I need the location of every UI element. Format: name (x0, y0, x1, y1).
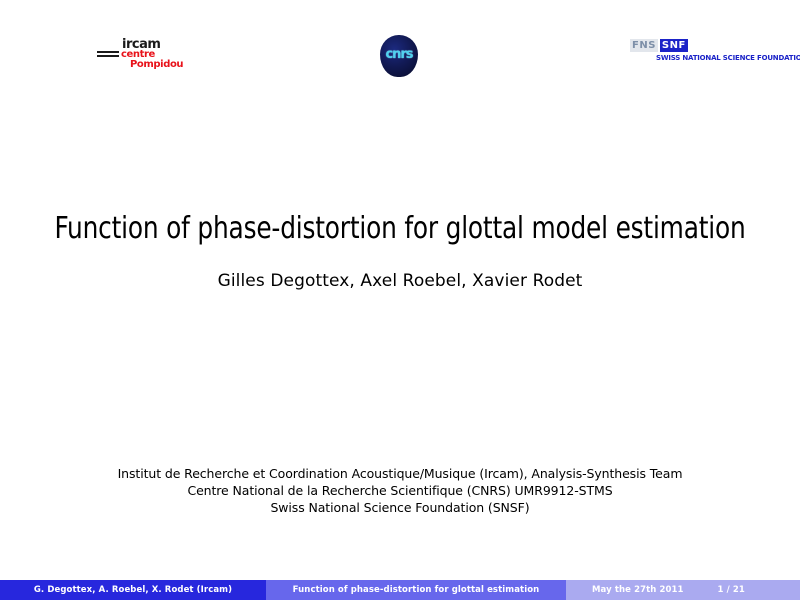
snsf-logo-chip-fns: FNS (630, 39, 658, 52)
snsf-logo-chip-snf: SNF (660, 39, 688, 52)
affiliation-line-1: Institut de Recherche et Coordination Ac… (0, 465, 800, 482)
slide-body: Function of phase-distortion for glottal… (0, 110, 800, 580)
footline: G. Degottex, A. Roebel, X. Rodet (Ircam)… (0, 580, 800, 600)
slide-authors: Gilles Degottex, Axel Roebel, Xavier Rod… (0, 270, 800, 292)
footline-author: G. Degottex, A. Roebel, X. Rodet (Ircam) (0, 580, 266, 600)
cnrs-logo-wordmark: cnrs (380, 48, 418, 61)
title-block: Function of phase-distortion for glottal… (0, 210, 800, 292)
snsf-logo: FNS SNF SWISS NATIONAL SCIENCE FOUNDATIO… (630, 39, 760, 69)
affiliation-line-3: Swiss National Science Foundation (SNSF) (0, 499, 800, 516)
affiliation-line-2: Centre National de la Recherche Scientif… (0, 482, 800, 499)
footline-page-number: 1 / 21 (718, 585, 745, 595)
ircam-logo: ircam centre Pompidou (97, 38, 177, 74)
footline-date: May the 27th 2011 (592, 585, 684, 595)
affiliation-block: Institut de Recherche et Coordination Ac… (0, 465, 800, 516)
snsf-logo-subtitle: SWISS NATIONAL SCIENCE FOUNDATION (656, 54, 800, 62)
presentation-slide: ircam centre Pompidou cnrs FNS SNF SWISS… (0, 0, 800, 600)
snsf-logo-chips: FNS SNF (630, 39, 688, 52)
footline-date-page: May the 27th 2011 1 / 21 (566, 580, 800, 600)
ircam-logo-bars-icon (97, 51, 119, 58)
cnrs-logo: cnrs (380, 35, 420, 77)
ircam-logo-pompidou-text: Pompidou (130, 60, 183, 70)
footline-title: Function of phase-distortion for glottal… (266, 580, 566, 600)
logo-strip: ircam centre Pompidou cnrs FNS SNF SWISS… (0, 0, 800, 110)
slide-title: Function of phase-distortion for glottal… (32, 210, 768, 248)
